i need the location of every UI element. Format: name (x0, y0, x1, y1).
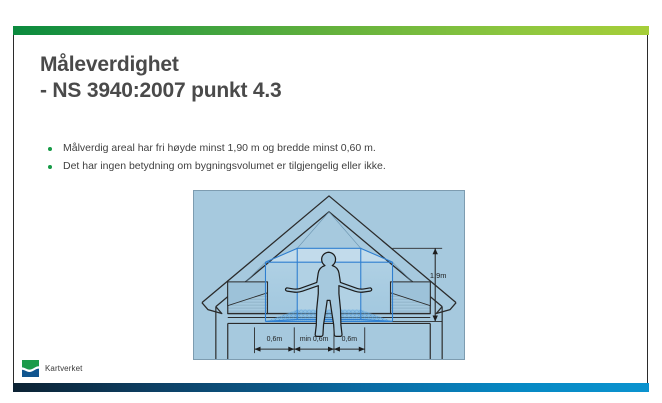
width-dimension-label-center: min 0,6m (300, 336, 329, 343)
list-item: Målverdig areal har fri høyde minst 1,90… (48, 141, 608, 156)
page-title-line-1: Måleverdighet (40, 52, 600, 78)
top-accent-bar (13, 26, 649, 35)
bottom-accent-bar (13, 383, 649, 392)
footer-logo: Kartverket (22, 360, 82, 377)
diagram-canvas: 1,9m 0,6m min 0,6m 0,6m (194, 191, 464, 359)
kartverket-logo-icon (22, 360, 39, 377)
page-title-line-2: - NS 3940:2007 punkt 4.3 (40, 78, 600, 104)
bullet-dot-icon (48, 147, 52, 151)
bullet-text: Målverdig areal har fri høyde minst 1,90… (63, 141, 376, 156)
slide-root: Måleverdighet - NS 3940:2007 punkt 4.3 M… (0, 0, 662, 403)
footer-logo-label: Kartverket (45, 364, 82, 373)
bullet-dot-icon (48, 165, 52, 169)
height-dimension-label: 1,9m (430, 271, 447, 280)
attic-cross-section-diagram: 1,9m 0,6m min 0,6m 0,6m (193, 190, 465, 360)
width-dimension-label-right: 0,6m (342, 336, 358, 343)
list-item: Det har ingen betydning om bygningsvolum… (48, 159, 608, 174)
bullet-text: Det har ingen betydning om bygningsvolum… (63, 159, 386, 174)
page-title: Måleverdighet - NS 3940:2007 punkt 4.3 (40, 52, 600, 105)
width-dimension-label-left: 0,6m (267, 336, 283, 343)
bullet-list: Målverdig areal har fri høyde minst 1,90… (48, 141, 608, 177)
